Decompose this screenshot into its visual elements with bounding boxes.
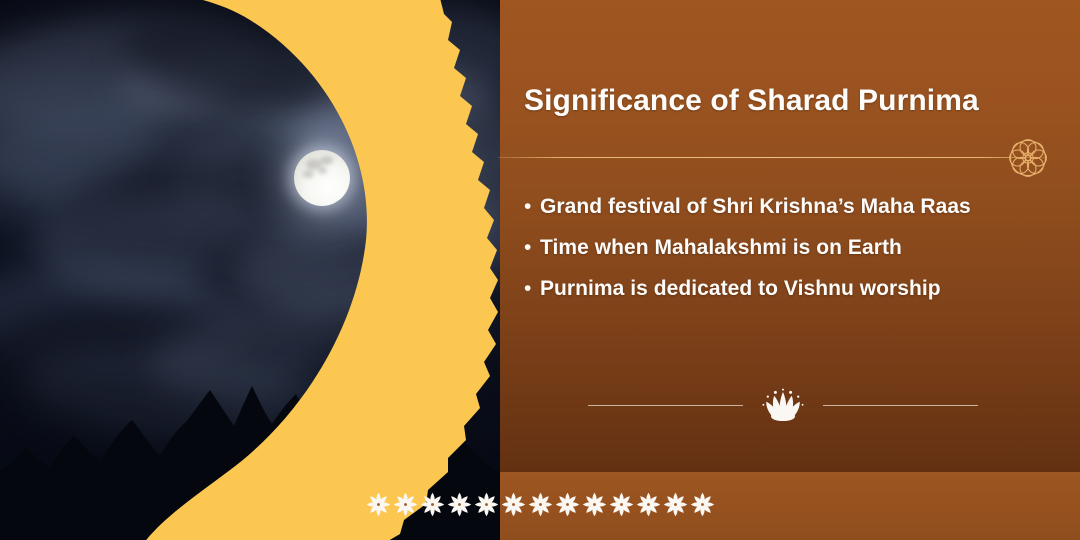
bullet-marker: • <box>524 196 540 217</box>
lotus-divider <box>583 388 983 422</box>
list-item: • Time when Mahalakshmi is on Earth <box>524 237 1064 278</box>
list-item-label: Purnima is dedicated to Vishnu worship <box>540 278 941 299</box>
bullet-marker: • <box>524 278 540 299</box>
eight-petal-flower-icon <box>392 491 419 518</box>
eight-petal-flower-icon <box>554 491 581 518</box>
moon-mare <box>318 167 327 174</box>
eight-petal-flower-icon <box>419 491 446 518</box>
eight-petal-flower-icon <box>689 491 716 518</box>
list-item: • Purnima is dedicated to Vishnu worship <box>524 278 1064 319</box>
eight-petal-flower-icon <box>635 491 662 518</box>
eight-petal-flower-icon <box>473 491 500 518</box>
bullet-list: • Grand festival of Shri Krishna’s Maha … <box>524 196 1064 319</box>
lotus-flower-icon <box>759 388 807 422</box>
eight-petal-flower-icon <box>365 491 392 518</box>
eight-petal-flower-icon <box>581 491 608 518</box>
eight-petal-flower-icon <box>608 491 635 518</box>
list-item-label: Time when Mahalakshmi is on Earth <box>540 237 902 258</box>
eight-petal-flower-icon <box>662 491 689 518</box>
moon-mare <box>320 156 333 165</box>
list-item-label: Grand festival of Shri Krishna’s Maha Ra… <box>540 196 971 217</box>
divider-line-left <box>588 405 743 406</box>
title-divider-rule <box>498 157 1046 158</box>
night-sky-photo <box>0 0 500 540</box>
bullet-marker: • <box>524 237 540 258</box>
list-item: • Grand festival of Shri Krishna’s Maha … <box>524 196 1064 237</box>
divider-line-right <box>823 405 978 406</box>
flower-border-strip <box>0 483 1080 525</box>
eight-petal-flower-icon <box>527 491 554 518</box>
slide-canvas: Significance of Sharad Purnima • Grand f… <box>0 0 1080 540</box>
eight-petal-flower-icon <box>446 491 473 518</box>
eight-petal-flower-icon <box>500 491 527 518</box>
mandala-rosette-icon <box>1004 134 1052 182</box>
page-title: Significance of Sharad Purnima <box>524 84 1044 118</box>
moon-mare <box>303 170 314 178</box>
full-moon-icon <box>294 150 350 206</box>
